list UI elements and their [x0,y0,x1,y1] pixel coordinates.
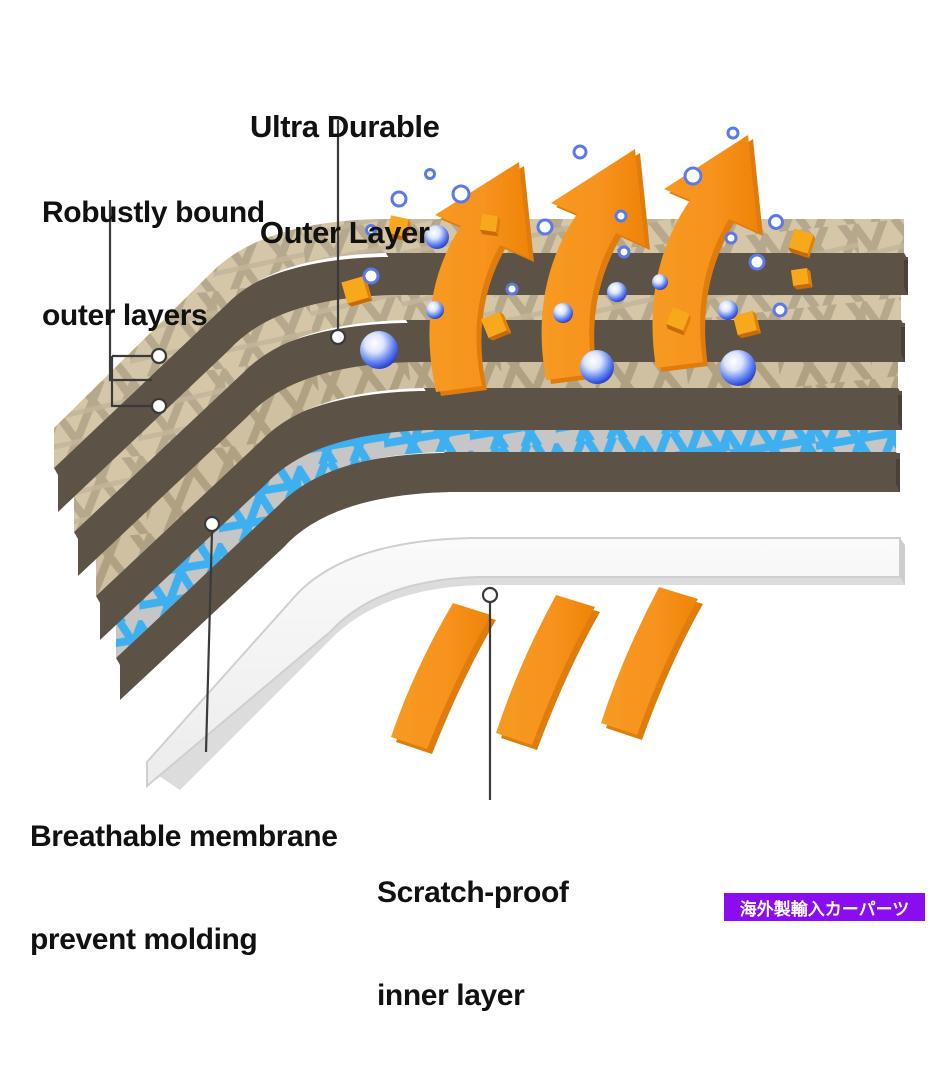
label-line: inner layer [377,979,569,1013]
orange-cube [479,214,501,236]
label-line: Breathable membrane [30,820,338,854]
label-scratch-proof-inner-layer: Scratch-proof inner layer [377,808,569,1082]
label-line: Robustly bound [42,196,265,230]
scratch-arrow-3 [601,587,703,740]
scratch-arrows-group [391,587,703,754]
orange-cube [791,268,813,290]
label-breathable-membrane: Breathable membrane prevent molding [30,752,338,1026]
diagram-canvas: Ultra Durable Outer Layer Robustly bound… [0,0,930,930]
label-line: outer layers [42,299,265,333]
scratch-arrow-2 [496,595,600,750]
watermark-badge: 海外製輸入カーパーツ [724,893,925,921]
watermark-badge-text: 海外製輸入カーパーツ [740,895,910,920]
label-line: Scratch-proof [377,876,569,910]
label-line: prevent molding [30,923,338,957]
label-ultra-durable-outer-layer: Ultra Durable Outer Layer [250,38,439,321]
label-line: Ultra Durable [250,109,439,144]
scratch-arrow-1 [391,603,496,754]
label-line: Outer Layer [250,215,439,250]
label-robustly-bound-outer-layers: Robustly bound outer layers [42,128,265,402]
